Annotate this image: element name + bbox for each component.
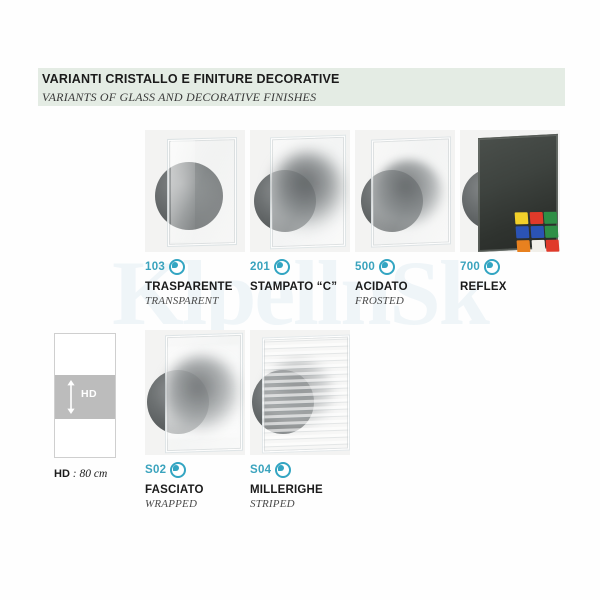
diffused-sphere xyxy=(272,152,344,230)
sample-image-reflex xyxy=(460,130,560,252)
hd-dimension-diagram: HD xyxy=(54,333,116,458)
variant-code: S02 xyxy=(145,464,166,476)
variant-name-it: STAMPATO “C” xyxy=(250,281,350,293)
variant-name-en: TRANSPARENT xyxy=(145,295,245,307)
variant-code-row: 700 xyxy=(460,259,560,275)
variant-name-it: MILLERIGHE xyxy=(250,484,350,496)
glass-variant-card-103[interactable]: 103 TRASPARENTE TRANSPARENT xyxy=(145,130,245,307)
variant-code-row: 103 xyxy=(145,259,245,275)
color-chip-6 xyxy=(517,240,531,252)
hd-band-label: HD xyxy=(81,388,97,400)
color-chip-8 xyxy=(546,239,560,252)
hd-caption-value: 80 cm xyxy=(79,468,107,480)
hd-highlight-band: HD xyxy=(55,375,115,419)
variant-name-it: REFLEX xyxy=(460,281,560,293)
sample-image-stampato-c xyxy=(250,130,350,252)
variant-code: 201 xyxy=(250,261,270,273)
sample-image-millerighe xyxy=(250,330,350,455)
striped-glass-pane xyxy=(262,334,350,453)
sample-image-acidato xyxy=(355,130,455,252)
glass-drop-icon xyxy=(484,259,500,275)
color-chip-1 xyxy=(529,212,543,225)
glass-drop-icon xyxy=(169,259,185,275)
color-chip-5 xyxy=(545,225,559,238)
color-chip-3 xyxy=(516,226,530,239)
variant-code: 103 xyxy=(145,261,165,273)
glass-variant-card-700[interactable]: 700 REFLEX xyxy=(460,130,560,295)
caption-block: 700 REFLEX xyxy=(460,259,560,293)
variant-code-row: 201 xyxy=(250,259,350,275)
glass-variant-card-201[interactable]: 201 STAMPATO “C” xyxy=(250,130,350,295)
variant-name-en: WRAPPED xyxy=(145,498,245,510)
variant-code-row: S04 xyxy=(250,462,350,478)
caption-block: 201 STAMPATO “C” xyxy=(250,259,350,293)
diffused-sphere xyxy=(375,160,443,226)
sample-image-fasciato xyxy=(145,330,245,455)
page-subtitle: VARIANTS OF GLASS AND DECORATIVE FINISHE… xyxy=(42,90,316,105)
variant-name-it: FASCIATO xyxy=(145,484,245,496)
color-chip-4 xyxy=(530,226,544,239)
glass-drop-icon xyxy=(275,462,291,478)
color-chip-7 xyxy=(531,240,545,252)
hd-double-arrow-icon xyxy=(66,380,76,414)
caption-block: S04 MILLERIGHE STRIPED xyxy=(250,462,350,510)
glass-variant-card-500[interactable]: 500 ACIDATO FROSTED xyxy=(355,130,455,307)
sample-image-transparent xyxy=(145,130,245,252)
glass-drop-icon xyxy=(379,259,395,275)
diffused-sphere xyxy=(165,356,239,430)
variant-name-en: STRIPED xyxy=(250,498,350,510)
glass-glare xyxy=(171,140,195,243)
variant-code: S04 xyxy=(250,464,271,476)
color-chip-0 xyxy=(515,212,529,225)
caption-block: 103 TRASPARENTE TRANSPARENT xyxy=(145,259,245,307)
glass-drop-icon xyxy=(274,259,290,275)
glass-variant-card-s04[interactable]: S04 MILLERIGHE STRIPED xyxy=(250,330,350,510)
glass-variant-card-s02[interactable]: S02 FASCIATO WRAPPED xyxy=(145,330,245,510)
variant-code: 500 xyxy=(355,261,375,273)
page-title: VARIANTI CRISTALLO E FINITURE DECORATIVE xyxy=(42,72,340,86)
color-chip-2 xyxy=(544,212,558,225)
variant-code-row: S02 xyxy=(145,462,245,478)
variant-code: 700 xyxy=(460,261,480,273)
hd-caption-key: HD xyxy=(54,468,70,480)
caption-block: 500 ACIDATO FROSTED xyxy=(355,259,455,307)
caption-block: S02 FASCIATO WRAPPED xyxy=(145,462,245,510)
color-reference-chart xyxy=(515,212,560,252)
variant-code-row: 500 xyxy=(355,259,455,275)
hd-caption: HD : 80 cm xyxy=(54,468,107,480)
glass-drop-icon xyxy=(170,462,186,478)
variant-name-en: FROSTED xyxy=(355,295,455,307)
variant-name-it: TRASPARENTE xyxy=(145,281,245,293)
variant-name-it: ACIDATO xyxy=(355,281,455,293)
